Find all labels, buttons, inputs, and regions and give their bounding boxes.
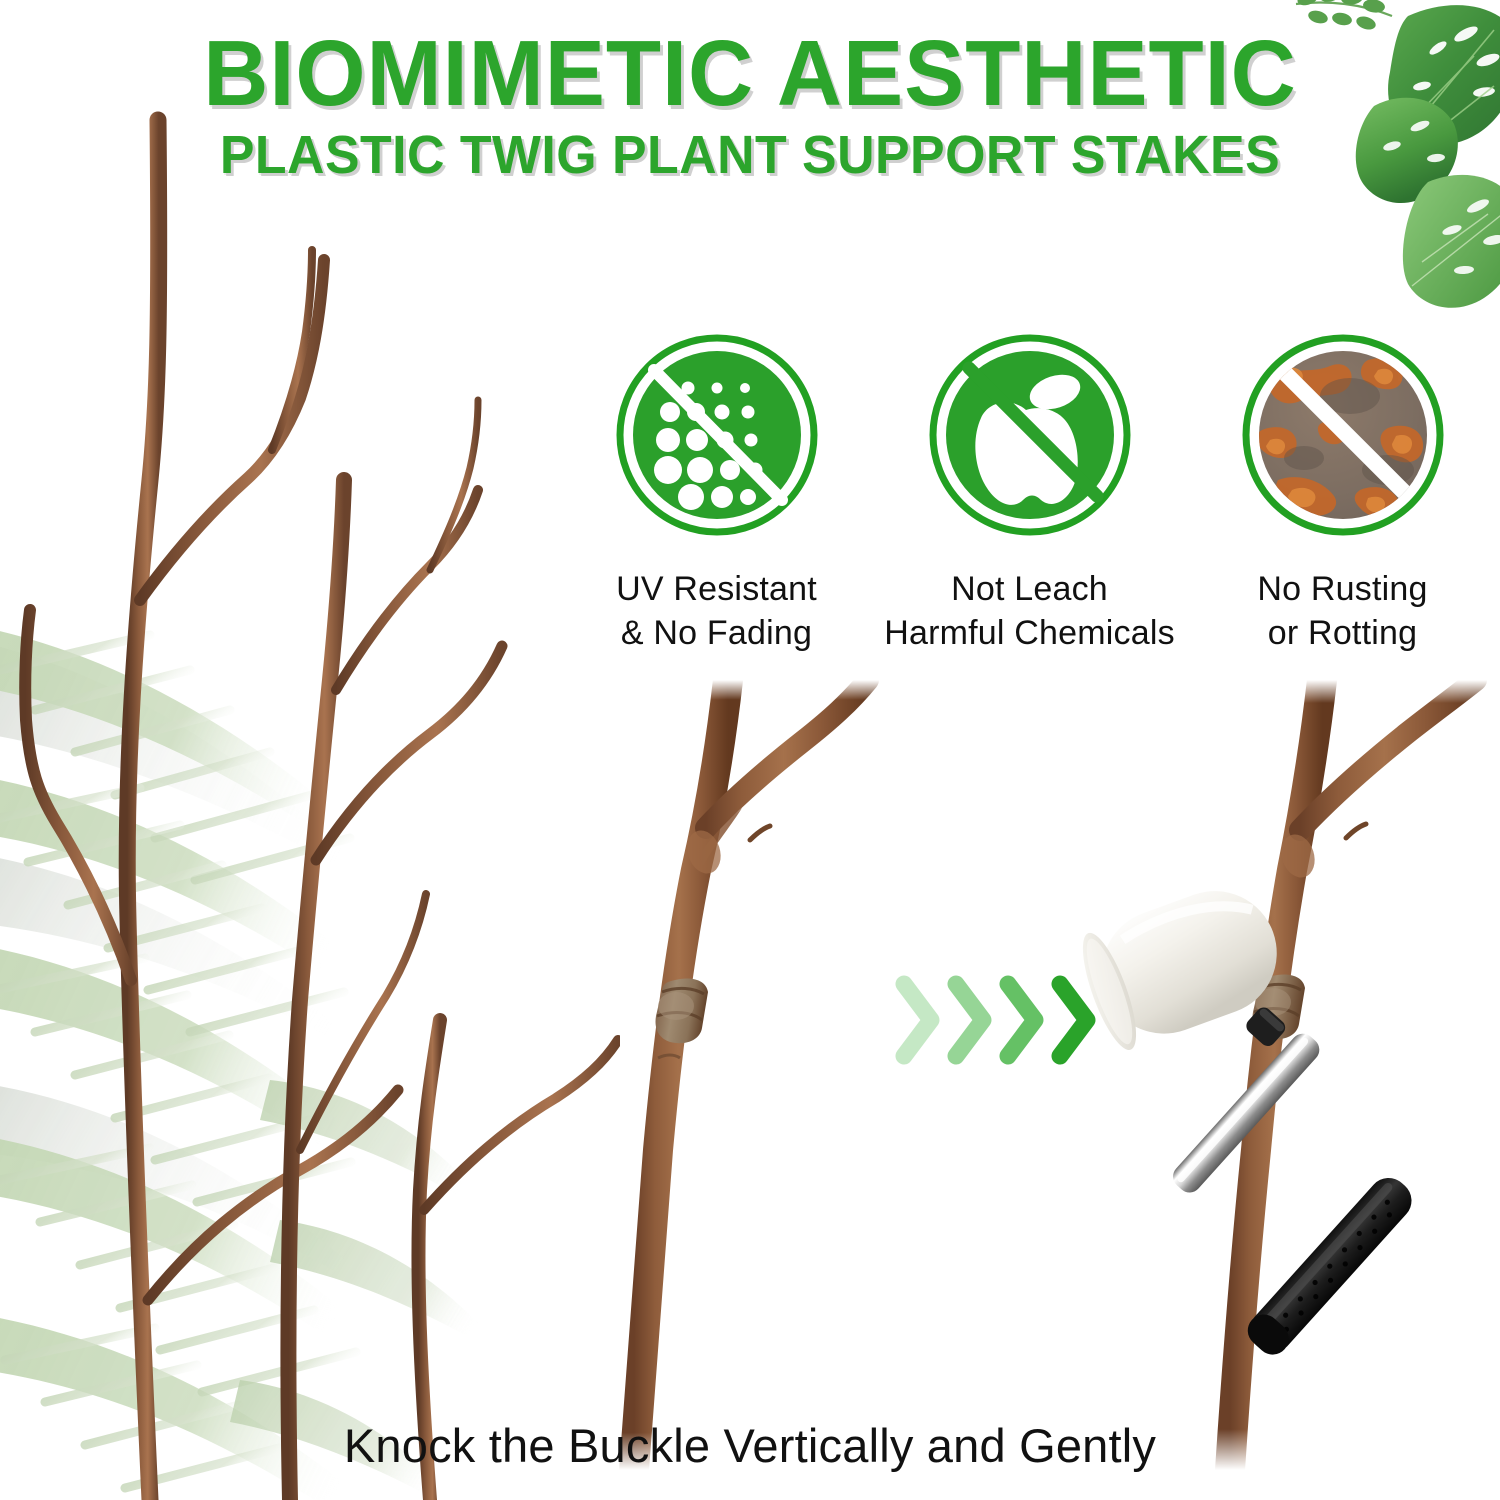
demo-stake-with-buckle	[600, 680, 900, 1470]
chevron-right-icon-2	[947, 974, 993, 1066]
chevron-right-icon-1	[895, 974, 941, 1066]
palm-frond-backdrop	[0, 520, 580, 1500]
header-title-block: BIOMIMETIC AESTHETIC PLASTIC TWIG PLANT …	[0, 28, 1500, 184]
chevron-right-icon-4	[1051, 974, 1097, 1066]
feature-badges-row: UV Resistant & No Fading Not Leach Harmf…	[560, 330, 1500, 655]
feature-badge-uv-resistant: UV Resistant & No Fading	[560, 330, 873, 655]
feature-badge-caption: UV Resistant & No Fading	[616, 568, 817, 655]
no-harmful-chemicals-apple-icon	[925, 330, 1135, 540]
no-rust-texture-icon	[1238, 330, 1448, 540]
page-title: BIOMIMETIC AESTHETIC	[23, 28, 1478, 119]
page-subtitle: PLASTIC TWIG PLANT SUPPORT STAKES	[30, 127, 1470, 184]
feature-badge-not-leach: Not Leach Harmful Chemicals	[873, 330, 1186, 655]
product-infographic: BIOMIMETIC AESTHETIC PLASTIC TWIG PLANT …	[0, 0, 1500, 1500]
chevron-right-icon-3	[999, 974, 1045, 1066]
no-fading-dots-icon	[612, 330, 822, 540]
feature-badge-no-rusting: No Rusting or Rotting	[1186, 330, 1499, 655]
feature-badge-caption: Not Leach Harmful Chemicals	[884, 568, 1175, 655]
instruction-caption: Knock the Buckle Vertically and Gently	[0, 1418, 1500, 1473]
demo-stake-being-knocked	[1180, 680, 1500, 1470]
feature-badge-caption: No Rusting or Rotting	[1257, 568, 1427, 655]
direction-arrows	[895, 960, 1115, 1080]
rubber-mallet	[1075, 880, 1485, 1380]
plastic-twig-branch-cluster	[0, 80, 620, 1500]
